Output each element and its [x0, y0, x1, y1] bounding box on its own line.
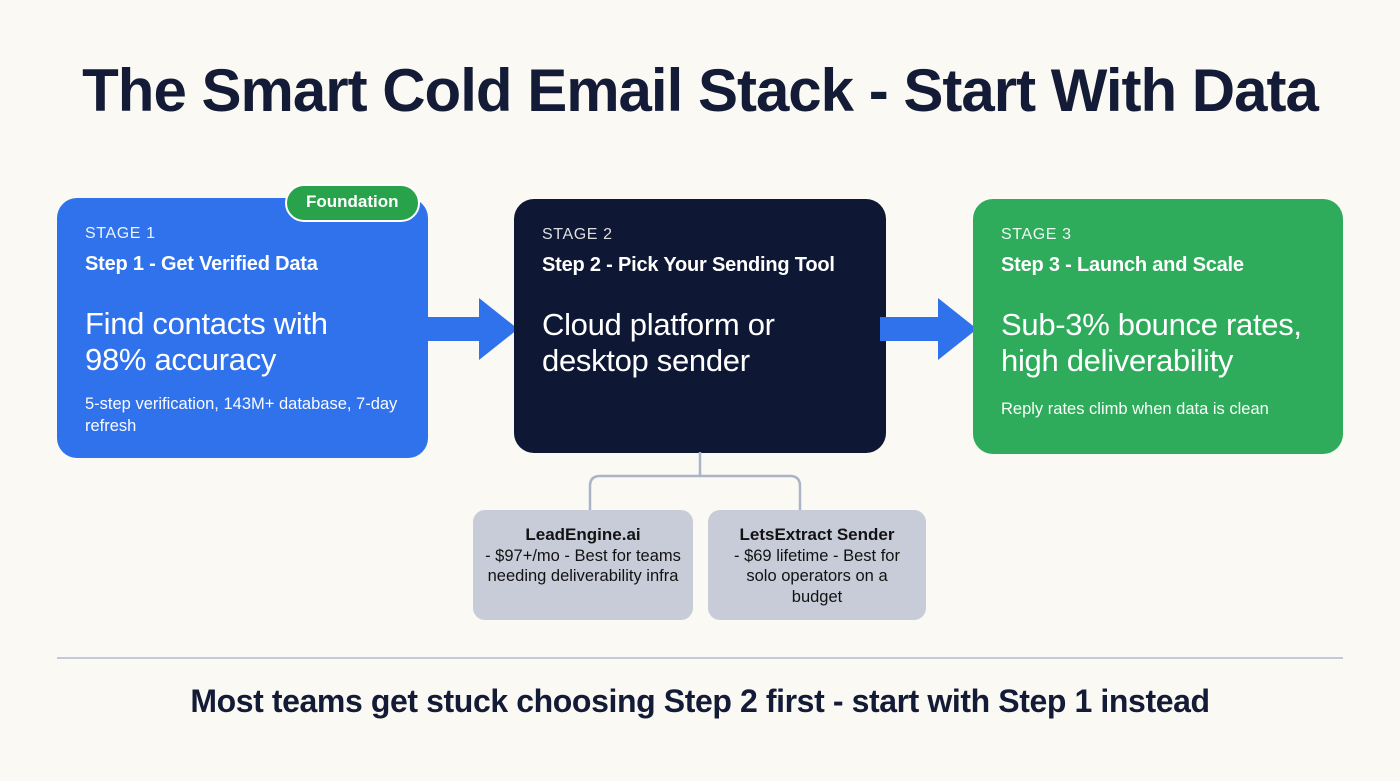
stage-subtext-3: Reply rates climb when data is clean	[1001, 399, 1315, 420]
stage-label-1: STAGE 1	[85, 224, 400, 243]
stage-headline-1: Find contacts with 98% accuracy	[85, 306, 375, 378]
tree-connector-icon	[480, 452, 860, 519]
stage-card-3: STAGE 3 Step 3 - Launch and Scale Sub-3%…	[973, 199, 1343, 454]
foundation-badge: Foundation	[285, 184, 420, 222]
stage-label-2: STAGE 2	[542, 225, 858, 244]
section-divider	[57, 657, 1343, 659]
stage-headline-3: Sub-3% bounce rates, high deliverability	[1001, 307, 1315, 379]
option-name-1: LeadEngine.ai	[485, 524, 681, 545]
stage-headline-2: Cloud platform or desktop sender	[542, 307, 832, 379]
stage-label-3: STAGE 3	[1001, 225, 1315, 244]
arrow-right-icon-2	[880, 298, 977, 365]
step-title-1: Step 1 - Get Verified Data	[85, 252, 400, 276]
option-details-2: - $69 lifetime - Best for solo operators…	[720, 546, 914, 606]
arrow-right-icon-1	[421, 298, 518, 365]
step-title-2: Step 2 - Pick Your Sending Tool	[542, 253, 858, 277]
stage-subtext-1: 5-step verification, 143M+ database, 7-d…	[85, 394, 400, 437]
option-details-1: - $97+/mo - Best for teams needing deliv…	[485, 546, 681, 586]
step-title-3: Step 3 - Launch and Scale	[1001, 253, 1315, 277]
option-box-letsextract: LetsExtract Sender - $69 lifetime - Best…	[708, 510, 926, 620]
stage-card-2: STAGE 2 Step 2 - Pick Your Sending Tool …	[514, 199, 886, 453]
stage-card-1: STAGE 1 Step 1 - Get Verified Data Find …	[57, 198, 428, 458]
footer-caption: Most teams get stuck choosing Step 2 fir…	[0, 683, 1400, 720]
option-name-2: LetsExtract Sender	[720, 524, 914, 545]
page-title: The Smart Cold Email Stack - Start With …	[0, 58, 1400, 124]
option-box-leadengine: LeadEngine.ai - $97+/mo - Best for teams…	[473, 510, 693, 620]
infographic-canvas: The Smart Cold Email Stack - Start With …	[0, 0, 1400, 781]
